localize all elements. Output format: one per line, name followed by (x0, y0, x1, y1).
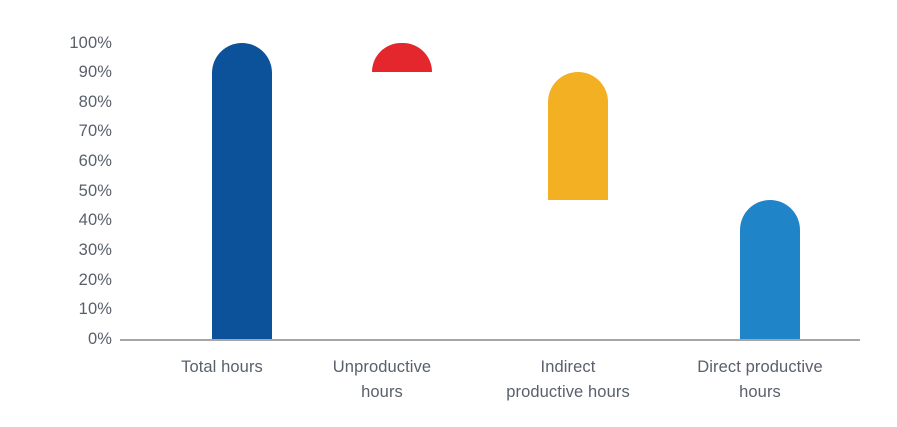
category-label-line: hours (312, 380, 452, 405)
waterfall-bar-chart: 100% 90% 80% 70% 60% 50% 40% 30% 20% 10%… (0, 0, 897, 427)
category-label-unproductive-hours: Unproductive hours (312, 355, 452, 405)
y-tick-label-100: 100% (0, 35, 112, 52)
category-label-line: Total hours (152, 355, 292, 380)
y-tick-label-40: 40% (0, 212, 112, 229)
bar-indirect-productive-hours (548, 72, 608, 200)
category-label-line: Direct productive (660, 355, 860, 380)
y-tick-label-20: 20% (0, 272, 112, 289)
y-tick-label-0: 0% (0, 331, 112, 348)
category-label-line: Unproductive (312, 355, 452, 380)
category-label-total-hours: Total hours (152, 355, 292, 380)
category-label-indirect-productive-hours: Indirect productive hours (478, 355, 658, 405)
y-tick-label-80: 80% (0, 94, 112, 111)
bar-direct-productive-hours (740, 200, 800, 339)
category-label-direct-productive-hours: Direct productive hours (660, 355, 860, 405)
y-tick-label-70: 70% (0, 123, 112, 140)
y-tick-label-10: 10% (0, 301, 112, 318)
y-tick-label-90: 90% (0, 64, 112, 81)
category-label-line: hours (660, 380, 860, 405)
y-tick-label-60: 60% (0, 153, 112, 170)
category-label-line: productive hours (478, 380, 658, 405)
category-label-line: Indirect (478, 355, 658, 380)
y-axis: 100% 90% 80% 70% 60% 50% 40% 30% 20% 10%… (0, 0, 112, 427)
bar-total-hours (212, 43, 272, 339)
bar-unproductive-hours (372, 43, 432, 72)
y-tick-label-50: 50% (0, 183, 112, 200)
y-tick-label-30: 30% (0, 242, 112, 259)
